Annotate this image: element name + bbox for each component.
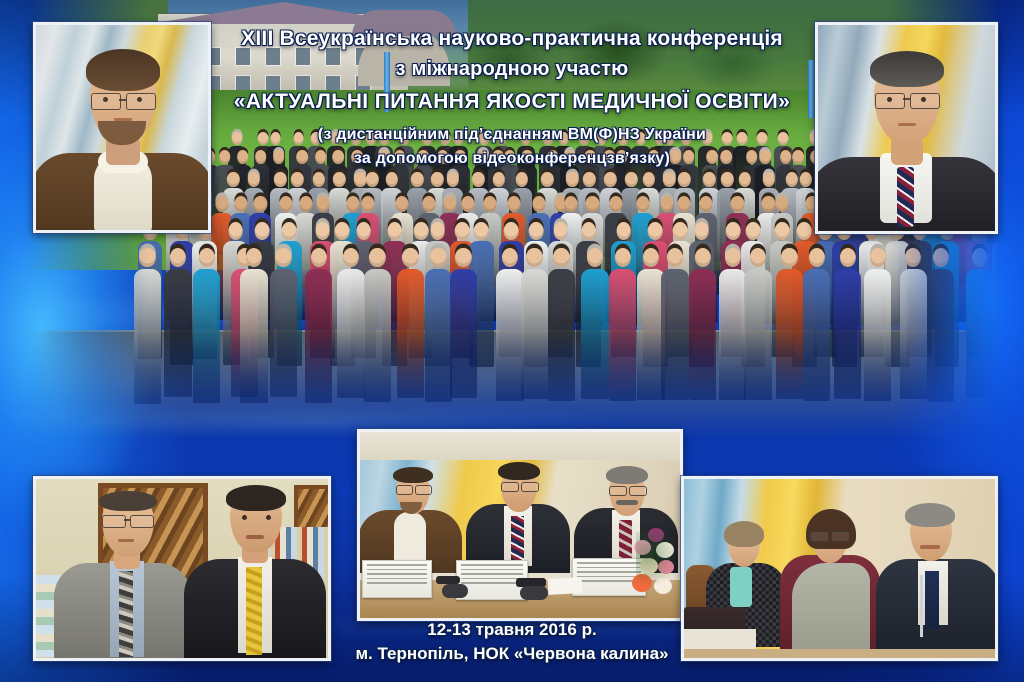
group-photo-person-head (781, 248, 797, 267)
group-photo-person-head (763, 172, 775, 187)
group-photo-person-body (240, 269, 267, 403)
group-photo-person-head (443, 196, 456, 212)
table-edge (684, 649, 995, 658)
group-photo-person-head (439, 132, 450, 145)
person-grey-suit-glasses-bridge (124, 519, 130, 521)
desk-mouse (520, 586, 548, 600)
photo-bottom-right (681, 476, 998, 661)
group-photo-person-head (248, 172, 260, 187)
group-photo-person-body (548, 269, 575, 401)
desk-papers (548, 577, 583, 595)
group-photo-person (776, 248, 803, 399)
group-photo-person-head (757, 132, 768, 145)
group-photo-person-body (270, 269, 297, 397)
presidium-person-right-glasses-left (609, 486, 627, 496)
group-photo-person-head (293, 132, 304, 145)
group-photo-person-head (504, 222, 519, 240)
mouth (114, 118, 132, 121)
group-photo-person-head (636, 196, 649, 212)
group-photo-person-head (529, 222, 544, 240)
group-photo-person-head (635, 132, 646, 145)
group-photo-person-head (793, 150, 805, 164)
group-photo-person-body (581, 269, 608, 399)
group-photo-person (134, 248, 161, 404)
presidium-person-right-hair (606, 466, 648, 484)
group-photo-person-head (492, 172, 504, 187)
group-photo-person-head (502, 248, 518, 267)
group-photo-person-head (870, 248, 886, 267)
group-photo-person (609, 248, 636, 401)
group-photo-person-head (369, 248, 385, 267)
group-photo-person-head (385, 172, 397, 187)
group-photo-person-head (516, 172, 528, 187)
group-photo-person-head (797, 222, 812, 240)
conference-poster: XIII Всеукраїнська науково-практична кон… (0, 0, 1024, 682)
group-photo-person-head (558, 132, 569, 145)
group-photo-person-head (411, 172, 423, 187)
group-photo-person-head (905, 248, 921, 267)
group-photo-person-head (643, 248, 659, 267)
mouth (898, 123, 916, 126)
group-photo-person-head (522, 150, 534, 164)
group-photo-person-head (526, 248, 542, 267)
building-dome (358, 26, 450, 86)
group-photo-person (803, 248, 830, 401)
group-photo-person-head (311, 248, 327, 267)
group-photo-person-head (694, 222, 709, 240)
attendee-right-hair (905, 503, 955, 527)
attendee-right-tie (925, 571, 939, 629)
attendee-left-scarf (730, 567, 752, 607)
group-photo-person-head (595, 132, 606, 145)
group-photo-person-head (379, 150, 391, 164)
presidium-person-center-glasses-right (521, 482, 539, 492)
presidium-person-left-glasses-right (415, 485, 432, 495)
portrait-top-left (33, 22, 211, 233)
person-grey-suit-mouth (118, 539, 134, 542)
attendee-right-mouth (920, 545, 940, 549)
group-photo-person-body (900, 269, 927, 399)
group-photo-person-head (724, 248, 740, 267)
group-photo-person-head (565, 196, 578, 212)
attendee-center-scarf (792, 563, 870, 651)
group-photo-person-head (351, 150, 363, 164)
group-photo-person-head (394, 150, 406, 164)
lamp-post (808, 60, 814, 118)
group-photo-person-head (667, 248, 683, 267)
group-photo-person-body (425, 269, 452, 402)
group-photo-person-head (648, 222, 663, 240)
group-photo-person-body (689, 269, 716, 400)
group-photo-person (661, 248, 688, 400)
group-photo-person-head (737, 132, 748, 145)
group-photo-person (397, 248, 424, 398)
group-photo-person-head (461, 196, 474, 212)
presidium-person-left-glasses-left (396, 485, 413, 495)
group-photo-person (521, 248, 548, 399)
group-photo-person-body (337, 269, 364, 398)
eye-left (103, 97, 108, 102)
group-photo-person-head (586, 196, 599, 212)
group-photo-person-head (775, 222, 790, 240)
group-photo-person-head (237, 150, 249, 164)
group-photo-person-head (270, 132, 281, 145)
group-photo-person-head (700, 196, 713, 212)
group-photo-person-body (134, 269, 161, 404)
person-grey-suit-hair (99, 491, 157, 511)
group-photo-person-head (776, 196, 789, 212)
group-photo-person-head (330, 132, 341, 145)
group-photo-person (966, 248, 993, 398)
group-photo-person-head (246, 248, 262, 267)
group-photo-person-head (677, 196, 690, 212)
person-dark-suit-eye-left (242, 515, 247, 520)
group-photo-person-head (472, 172, 484, 187)
group-photo-person-body (397, 269, 424, 398)
group-photo-person-head (228, 222, 243, 240)
group-photo-person-head (361, 196, 374, 212)
group-photo-person (719, 248, 746, 400)
group-photo-person-head (255, 222, 270, 240)
photo-bottom-right-content (684, 479, 995, 658)
presidium-person-left-hair (393, 467, 433, 483)
group-photo-person-head (971, 248, 987, 267)
presidium-person-right-glasses-right (629, 486, 647, 496)
group-photo-person-head (553, 248, 569, 267)
group-photo-person-body (803, 269, 830, 401)
group-photo-person-head (387, 222, 402, 240)
group-photo-person-head (430, 222, 445, 240)
hair (86, 49, 160, 91)
group-photo-person-head (618, 132, 629, 145)
group-photo-person-head (532, 196, 545, 212)
group-photo-person-head (664, 132, 675, 145)
group-photo-person-head (232, 132, 243, 145)
attendee-right-lanyard (920, 575, 923, 637)
group-photo-person-body (496, 269, 523, 401)
group-photo-person (900, 248, 927, 399)
photo-bottom-left-content (36, 479, 328, 658)
glasses-bridge (903, 98, 910, 100)
group-photo-person-head (275, 248, 291, 267)
group-photo-person-head (604, 172, 616, 187)
group-photo-person-head (455, 222, 470, 240)
group-photo-person (996, 248, 1000, 402)
group-photo-person-body (719, 269, 746, 400)
group-photo-person-body (966, 269, 993, 398)
portrait-top-left-content (36, 25, 208, 230)
person-dark-suit-tie (246, 567, 262, 655)
group-photo-person-head (541, 172, 553, 187)
lamp-post (384, 52, 390, 112)
person-dark-suit-eye-right (266, 515, 271, 520)
group-photo-person-head (496, 132, 507, 145)
group-photo-person-head (483, 196, 496, 212)
group-photo-person-head (255, 150, 267, 164)
group-photo-person-head (660, 196, 673, 212)
person-grey-suit-tie (119, 571, 133, 657)
group-photo-person-head (584, 150, 596, 164)
group-photo-person (834, 248, 861, 399)
group-photo-person-head (726, 222, 741, 240)
group-photo-person (364, 248, 391, 402)
group-photo-person-head (800, 172, 812, 187)
group-photo-person-head (703, 172, 715, 187)
group-photo-person-head (520, 132, 531, 145)
group-photo-person-head (343, 248, 359, 267)
group-photo-person-head (507, 196, 520, 212)
group-photo-person-head (296, 150, 308, 164)
group-photo-person-head (504, 150, 516, 164)
group-photo-person-head (579, 132, 590, 145)
group-photo-person (305, 248, 332, 403)
group-photo-person-head (317, 196, 330, 212)
group-photo-person-head (564, 150, 576, 164)
eye-right (137, 97, 142, 102)
group-photo-person-head (683, 150, 695, 164)
attendee-center-glasses-left (810, 531, 829, 542)
group-photo-person-head (311, 132, 322, 145)
group-photo-person-head (430, 248, 446, 267)
flower-bouquet (632, 528, 682, 606)
group-photo-person-head (215, 196, 228, 212)
group-photo-person-head (437, 150, 449, 164)
group-photo-person-head (227, 172, 239, 187)
group-photo-person-head (447, 172, 459, 187)
photo-bottom-center-content (360, 432, 680, 618)
group-photo-person-head (731, 196, 744, 212)
group-photo-person-head (315, 222, 330, 240)
group-photo-person-head (681, 132, 692, 145)
group-photo-person-head (701, 132, 712, 145)
person-dark-suit-mouth (246, 535, 264, 539)
group-photo-person (927, 248, 954, 402)
group-photo-person-head (282, 222, 297, 240)
group-photo-person-head (678, 172, 690, 187)
portrait-top-right-content (818, 25, 995, 231)
group-photo-person-head (614, 248, 630, 267)
presidium-person-center-hair (498, 462, 540, 480)
person-grey-suit-glasses-left (102, 515, 126, 528)
group-photo-person-head (738, 172, 750, 187)
group-photo-person-head (809, 248, 825, 267)
group-photo-person-head (583, 172, 595, 187)
attendee-left-hair (724, 521, 764, 547)
group-photo-person-head (648, 150, 660, 164)
person-dark-suit-hair (226, 485, 286, 511)
group-photo-person-head (422, 196, 435, 212)
group-photo-person-head (273, 150, 285, 164)
group-photo-person-head (219, 150, 231, 164)
group-photo-person (425, 248, 452, 402)
group-photo-person-body (661, 269, 688, 400)
group-photo-person-body (364, 269, 391, 402)
group-photo-person-head (395, 196, 408, 212)
person-grey-suit-glasses-right (130, 515, 154, 528)
group-photo-person-head (759, 150, 771, 164)
eye-right (921, 97, 926, 102)
group-photo-person-head (291, 172, 303, 187)
group-photo-person-body (450, 269, 477, 398)
group-photo-person-head (139, 248, 155, 267)
group-photo-person (689, 248, 716, 400)
group-photo-person (744, 248, 771, 400)
group-photo-person (548, 248, 575, 401)
group-photo-person-body (164, 269, 191, 397)
attendee-center-glasses-right (831, 531, 850, 542)
group-photo-person-head (479, 132, 490, 145)
group-photo-person-head (279, 196, 292, 212)
group-photo-person (193, 248, 220, 403)
group-photo-person (581, 248, 608, 399)
group-photo-person-head (642, 172, 654, 187)
group-photo-person-body (744, 269, 771, 400)
group-photo-person-head (366, 172, 378, 187)
group-photo-person-body (996, 269, 1000, 402)
group-photo-person-body (609, 269, 636, 401)
group-photo-person-head (418, 150, 430, 164)
group-photo-person (496, 248, 523, 401)
group-photo-person (164, 248, 191, 397)
glasses-bridge (119, 99, 126, 101)
group-photo-person-head (351, 132, 362, 145)
hair (870, 51, 944, 87)
group-photo-person-head (840, 248, 856, 267)
group-photo-person-head (750, 248, 766, 267)
group-photo-person-head (453, 132, 464, 145)
photo-bottom-center (357, 429, 683, 621)
group-photo-person-head (625, 172, 637, 187)
presidium-person-center-glasses-left (501, 482, 519, 492)
group-photo-person-head (587, 248, 603, 267)
group-photo-person-head (933, 248, 949, 267)
group-photo-person (240, 248, 267, 403)
presidium-person-right-moustache (616, 500, 638, 505)
ceiling (360, 432, 680, 460)
portrait-top-right (815, 22, 998, 234)
group-photo-person-head (553, 222, 568, 240)
group-photo-person-head (333, 172, 345, 187)
group-photo-person-body (305, 269, 332, 403)
group-photo-person-head (778, 132, 789, 145)
group-photo-person-head (356, 222, 371, 240)
group-photo-person-head (254, 196, 267, 212)
group-photo-person-head (421, 132, 432, 145)
group-photo-person-head (234, 196, 247, 212)
group-photo-person-head (721, 172, 733, 187)
group-photo-person-head (454, 150, 466, 164)
eye-left (887, 97, 892, 102)
group-photo-person-head (616, 150, 628, 164)
group-photo-person-head (332, 150, 344, 164)
desk-device (436, 576, 460, 584)
group-photo-person-body (193, 269, 220, 403)
group-photo-person-head (402, 248, 418, 267)
group-photo-person (864, 248, 891, 401)
desk-mouse (442, 584, 468, 598)
group-photo-person-head (315, 150, 327, 164)
nameplate-left (362, 560, 432, 598)
group-photo-person-body (521, 269, 548, 399)
group-photo-person-head (695, 248, 711, 267)
group-photo-person-head (547, 150, 559, 164)
group-photo-person-head (616, 222, 631, 240)
group-photo-person-head (378, 132, 389, 145)
group-photo-person-head (581, 222, 596, 240)
group-photo-person-head (477, 150, 489, 164)
group-photo-person-body (927, 269, 954, 402)
group-photo-person-head (312, 172, 324, 187)
group-photo-person-head (566, 172, 578, 187)
group-photo-person-head (721, 150, 733, 164)
group-photo-person (450, 248, 477, 398)
group-photo-person-head (543, 132, 554, 145)
group-photo-person (337, 248, 364, 398)
necktie (897, 167, 914, 227)
group-photo-person-head (335, 222, 350, 240)
group-photo-person-head (673, 222, 688, 240)
group-photo-person-head (199, 248, 215, 267)
group-photo-person-head (609, 196, 622, 212)
group-photo-person-head (722, 132, 733, 145)
photo-bottom-left (33, 476, 331, 661)
group-photo-person-body (864, 269, 891, 401)
group-photo-person-body (834, 269, 861, 399)
group-photo-person-head (474, 222, 489, 240)
group-photo-person-head (170, 248, 186, 267)
group-photo-person-head (274, 172, 286, 187)
group-photo-person (270, 248, 297, 397)
group-photo-person-head (745, 222, 760, 240)
group-photo-person-head (455, 248, 471, 267)
group-photo-person-head (300, 196, 313, 212)
group-photo-person-head (399, 132, 410, 145)
group-photo-person-body (776, 269, 803, 399)
